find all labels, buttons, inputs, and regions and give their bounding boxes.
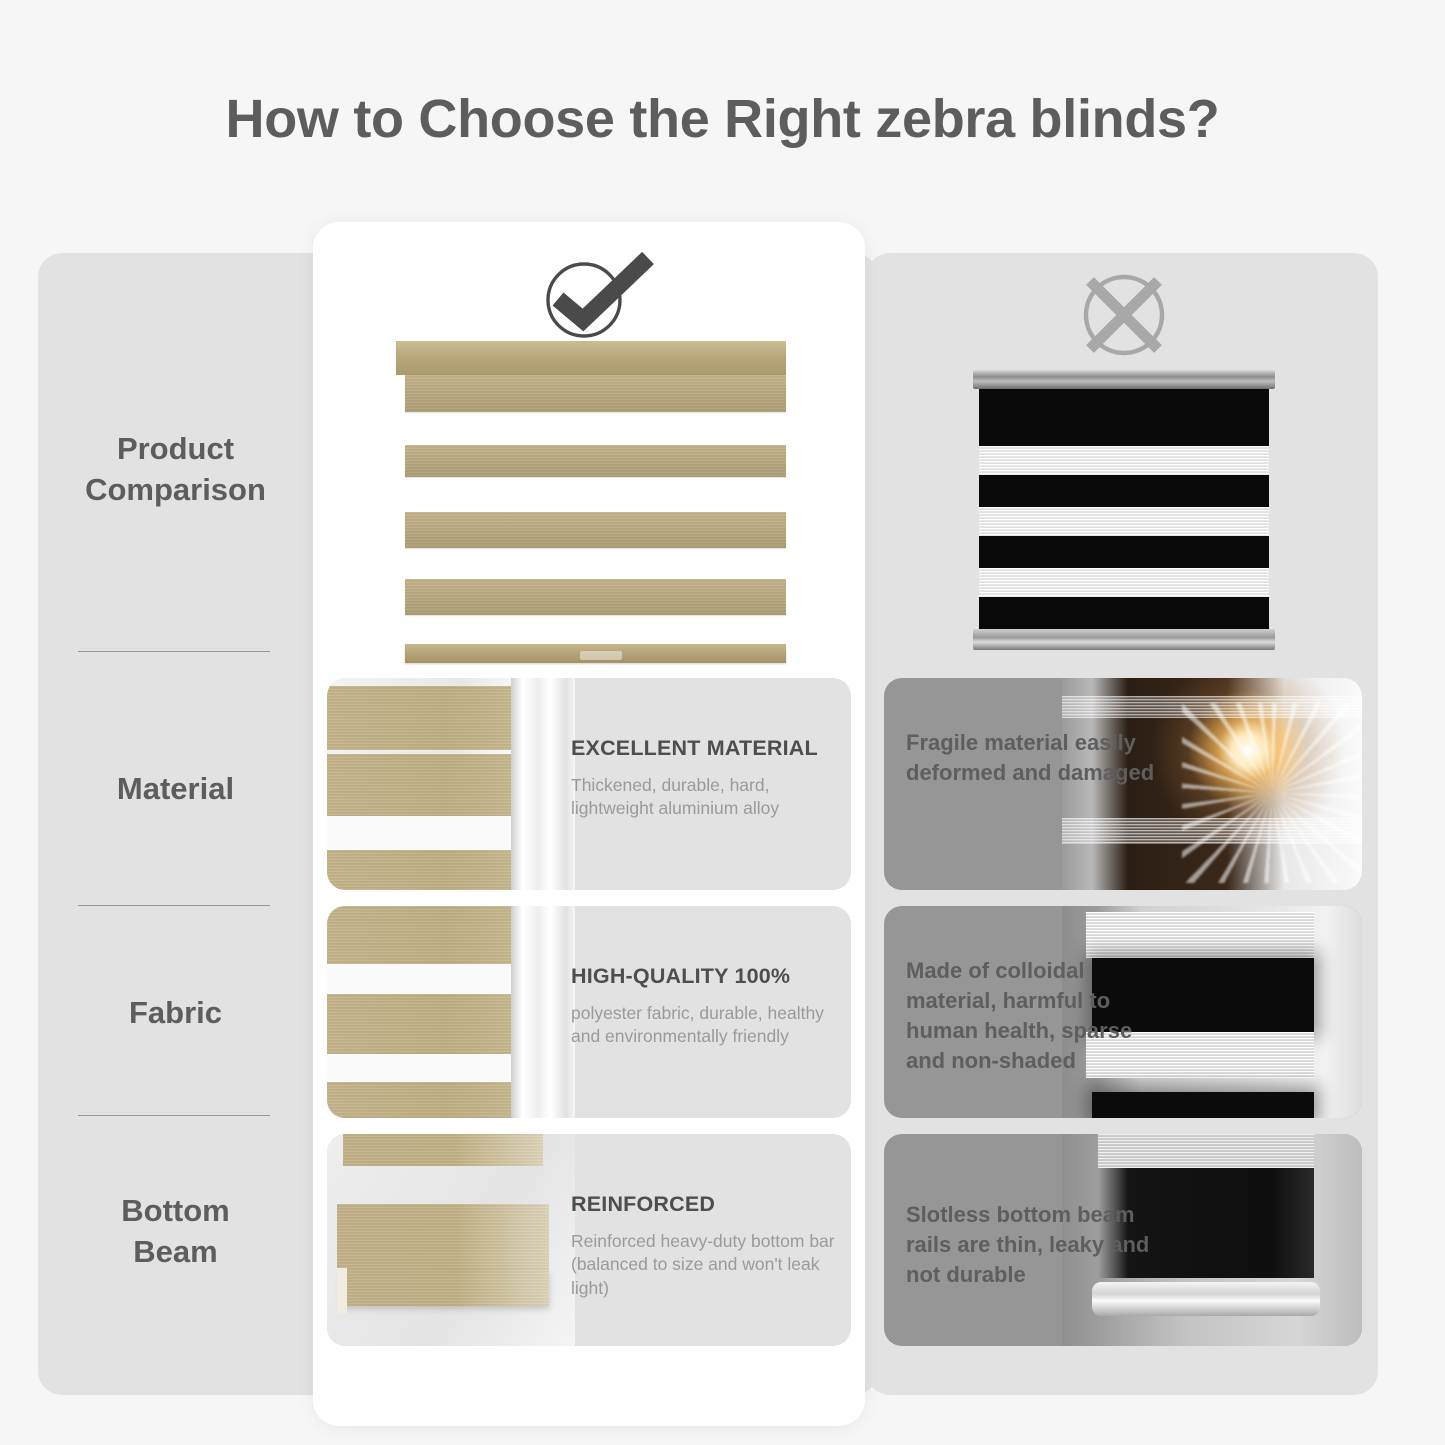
blind-stripe — [979, 446, 1269, 475]
row-label-column: ProductComparison Material Fabric Bottom… — [38, 253, 313, 1395]
feature-card-good-bottom-beam: REINFORCED Reinforced heavy-duty bottom … — [327, 1134, 851, 1346]
feature-body: Reinforced heavy-duty bottom bar (balanc… — [571, 1230, 839, 1300]
row-divider-1 — [78, 651, 270, 652]
feature-card-bad-material: Fragile material easily deformed and dam… — [884, 678, 1362, 890]
row-label-product-comparison: ProductComparison — [38, 429, 313, 511]
blind-body — [979, 389, 1269, 629]
row-label-fabric: Fabric — [38, 993, 313, 1034]
feature-photo — [327, 906, 575, 1118]
page-title: How to Choose the Right zebra blinds? — [0, 88, 1445, 150]
row-divider-3 — [78, 1115, 270, 1116]
blind-stripe — [979, 507, 1269, 536]
cross-circle-icon — [1073, 264, 1175, 366]
feature-card-good-material: EXCELLENT MATERIAL Thickened, durable, h… — [327, 678, 851, 890]
blind-band — [405, 375, 786, 412]
feature-photo — [327, 1134, 575, 1346]
feature-photo — [327, 678, 575, 890]
check-circle-icon — [536, 252, 656, 342]
feature-card-bad-fabric: Made of colloidal material, harmful to h… — [884, 906, 1362, 1118]
bottom-bar — [405, 644, 786, 663]
product-image-good — [396, 341, 786, 663]
product-image-bad — [973, 370, 1275, 648]
row-divider-2 — [78, 905, 270, 906]
blind-band — [405, 512, 786, 548]
feature-heading: REINFORCED — [571, 1192, 839, 1217]
feature-text: Slotless bottom beam rails are thin, lea… — [906, 1200, 1156, 1290]
blind-band — [405, 445, 786, 477]
feature-card-good-fabric: HIGH-QUALITY 100% polyester fabric, dura… — [327, 906, 851, 1118]
feature-body: polyester fabric, durable, healthy and e… — [571, 1002, 839, 1049]
headrail — [973, 370, 1275, 389]
feature-body: Thickened, durable, hard, lightweight al… — [571, 774, 839, 821]
feature-text: Made of colloidal material, harmful to h… — [906, 956, 1156, 1077]
row-label-bottom-beam: BottomBeam — [38, 1191, 313, 1273]
feature-card-bad-bottom-beam: Slotless bottom beam rails are thin, lea… — [884, 1134, 1362, 1346]
blind-band — [405, 579, 786, 615]
feature-heading: HIGH-QUALITY 100% — [571, 964, 839, 989]
row-label-material: Material — [38, 769, 313, 810]
bottom-bar — [973, 629, 1275, 650]
headrail — [396, 341, 786, 375]
feature-heading: EXCELLENT MATERIAL — [571, 736, 839, 761]
blind-stripe — [979, 568, 1269, 597]
feature-text: Fragile material easily deformed and dam… — [906, 728, 1156, 788]
